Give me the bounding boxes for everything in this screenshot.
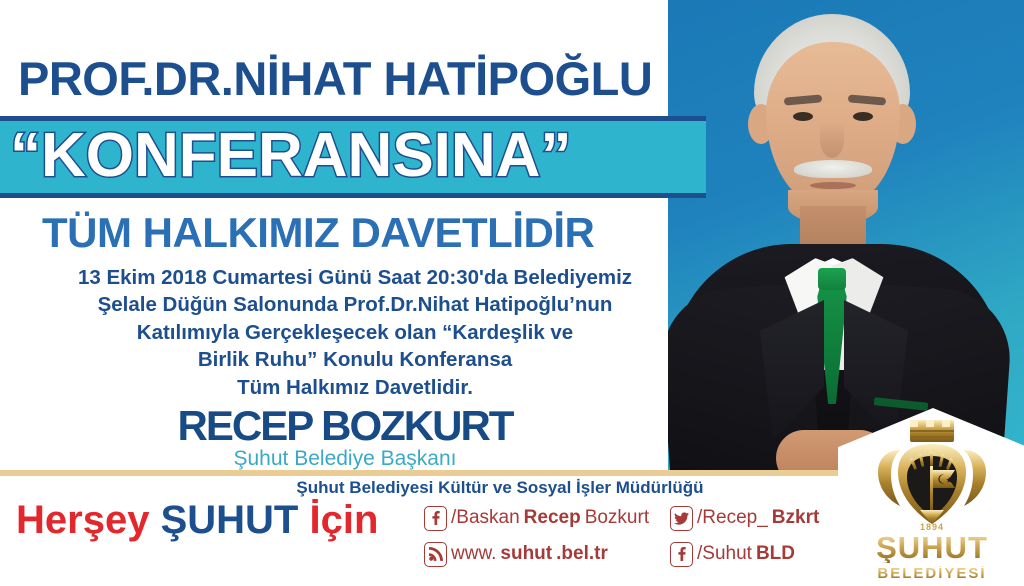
website-link[interactable]: www.suhut.bel.tr <box>424 542 670 567</box>
portrait-mouth <box>810 182 856 189</box>
event-description-line: 13 Ekim 2018 Cumartesi Günü Saat 20:30'd… <box>30 264 680 291</box>
poster-canvas: PROF.DR.NİHAT HATİPOĞLU “KONFERANSINA” T… <box>0 0 1024 586</box>
emblem-name: ŞUHUT <box>848 532 1016 563</box>
social-link-bold: Recep <box>524 507 581 529</box>
speaker-portrait <box>668 0 1024 472</box>
signature-role: Şuhut Belediye Başkanı <box>0 448 690 469</box>
portrait-eye-left <box>793 112 813 121</box>
social-link-facebook-baskan[interactable]: /BaskanRecepBozkurt <box>424 506 670 531</box>
event-description-line: Katılımıyla Gerçekleşecek olan “Kardeşli… <box>30 319 680 346</box>
portrait-nose <box>820 122 844 158</box>
event-description: 13 Ekim 2018 Cumartesi Günü Saat 20:30'd… <box>30 264 680 401</box>
twitter-icon <box>670 506 693 531</box>
subtitle-invitation: TÜM HALKIMIZ DAVETLİDİR <box>42 212 594 254</box>
slogan-word-3: İçin <box>309 498 378 542</box>
event-description-line: Tüm Halkımız Davetlidir. <box>30 374 680 401</box>
social-link-prefix: /Recep_ <box>697 507 768 529</box>
website-bold: suhut <box>500 543 552 565</box>
portrait-eye-right <box>853 112 873 121</box>
slogan-word-2: ŞUHUT <box>161 498 299 542</box>
portrait-moustache <box>794 160 872 178</box>
website-suffix: .bel.tr <box>556 543 608 565</box>
event-description-line: Birlik Ruhu” Konulu Konferansa <box>30 346 680 373</box>
banner-title: “KONFERANSINA” <box>10 125 571 187</box>
facebook-icon <box>424 506 447 531</box>
conference-banner: “KONFERANSINA” <box>0 116 706 198</box>
event-description-line: Şelale Düğün Salonunda Prof.Dr.Nihat Hat… <box>30 291 680 318</box>
website-prefix: www. <box>451 543 496 565</box>
social-link-twitter-recep[interactable]: /Recep_Bzkrt <box>670 506 844 531</box>
social-link-bold: Bzkrt <box>772 507 820 529</box>
slogan-word-1: Herşey <box>16 498 149 542</box>
facebook-icon <box>670 542 693 567</box>
social-link-prefix: /Baskan <box>451 507 520 529</box>
speaker-photo-panel <box>668 0 1024 472</box>
social-link-bold: BLD <box>756 543 795 565</box>
slogan: Herşey ŞUHUT İçin <box>16 500 378 540</box>
social-link-facebook-suhut[interactable]: /SuhutBLD <box>670 542 844 567</box>
crest-icon <box>848 418 1016 528</box>
page-title: PROF.DR.NİHAT HATİPOĞLU <box>18 55 652 102</box>
signature-name: RECEP BOZKURT <box>0 405 690 447</box>
municipality-logo: 1894 ŞUHUT BELEDİYESİ <box>848 418 1016 586</box>
social-link-suffix: Bozkurt <box>585 507 649 529</box>
social-link-prefix: /Suhut <box>697 543 752 565</box>
portrait-tie-knot <box>818 268 846 290</box>
emblem-subtitle: BELEDİYESİ <box>848 566 1016 581</box>
social-links: /BaskanRecepBozkurt /Recep_Bzkrt www.suh… <box>424 500 844 572</box>
rss-icon <box>424 542 447 567</box>
